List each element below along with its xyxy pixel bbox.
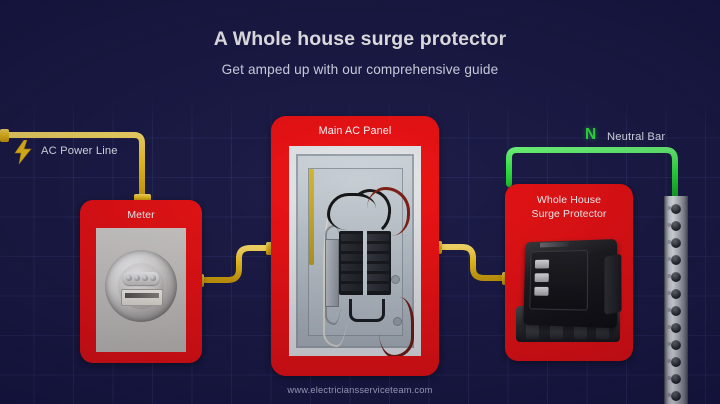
surge-side-housing bbox=[604, 254, 621, 315]
surge-protector-body bbox=[523, 239, 617, 328]
yellow-ground-wire bbox=[309, 169, 314, 265]
panel-card-label: Main AC Panel bbox=[271, 125, 439, 138]
meter-card-label: Meter bbox=[80, 209, 202, 222]
surge-indicator-panel bbox=[529, 250, 588, 311]
meter-terminal-block bbox=[123, 272, 159, 285]
meter-face bbox=[118, 263, 164, 309]
ac-power-line-label: AC Power Line bbox=[41, 145, 118, 157]
device-card-surge-protector[interactable]: Whole House Surge Protector bbox=[505, 184, 633, 361]
surge-status-led-2 bbox=[535, 273, 549, 282]
device-card-meter[interactable]: Meter bbox=[80, 200, 202, 363]
red-hot-wire-1 bbox=[367, 187, 410, 236]
panel-enclosure bbox=[296, 154, 414, 348]
meter-photo bbox=[96, 228, 186, 352]
surge-status-led-1 bbox=[535, 260, 549, 269]
surge-card-label-line1: Whole House bbox=[505, 194, 633, 207]
breaker-center-divider bbox=[363, 231, 367, 295]
device-card-main-ac-panel[interactable]: Main AC Panel bbox=[271, 116, 439, 376]
infographic-canvas: A Whole house surge protector Get amped … bbox=[0, 0, 720, 404]
footer-website-url: www.electriciansserviceteam.com bbox=[0, 385, 720, 395]
meter-register-display bbox=[121, 289, 163, 306]
surge-status-led-3 bbox=[534, 287, 548, 296]
circuit-breaker-stack bbox=[339, 231, 391, 295]
lightning-bolt-icon bbox=[14, 140, 32, 164]
neutral-letter-icon: N bbox=[585, 126, 596, 144]
main-ac-panel-photo bbox=[289, 146, 421, 356]
meter-glass-dome bbox=[105, 250, 177, 322]
panel-interior bbox=[308, 168, 403, 336]
surge-card-label-line2: Surge Protector bbox=[505, 208, 633, 221]
page-title: A Whole house surge protector bbox=[0, 28, 720, 51]
neutral-bar-label: Neutral Bar bbox=[607, 131, 665, 143]
main-feed-conduit bbox=[349, 299, 385, 322]
panel-neutral-bus bbox=[325, 239, 339, 307]
page-subtitle: Get amped up with our comprehensive guid… bbox=[0, 62, 720, 77]
neutral-bar-component bbox=[664, 196, 688, 404]
surge-brand-plate bbox=[540, 242, 569, 248]
surge-protector-photo bbox=[514, 232, 624, 348]
